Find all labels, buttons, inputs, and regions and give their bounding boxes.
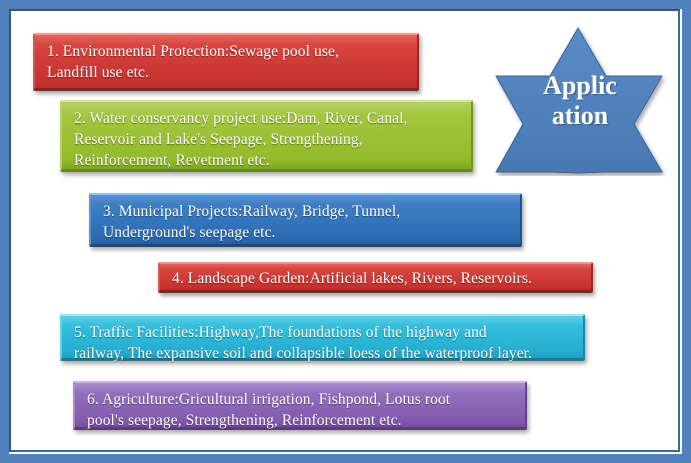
item-6-line-1: 6. Agriculture:Gricultural irrigation, F… bbox=[87, 389, 515, 410]
item-box-2[interactable]: 2. Water conservancy project use:Dam, Ri… bbox=[60, 100, 473, 172]
item-2-line-2: Reservoir and Lake's Seepage, Strengthen… bbox=[74, 129, 461, 150]
item-5-line-1: 5. Traffic Facilities:Highway,The founda… bbox=[74, 322, 573, 343]
six-point-star-icon bbox=[492, 26, 668, 176]
item-box-1[interactable]: 1. Environmental Protection:Sewage pool … bbox=[33, 33, 419, 91]
frame-top-border bbox=[0, 0, 691, 9]
frame-right-border bbox=[682, 0, 691, 463]
item-3-line-1: 3. Municipal Projects:Railway, Bridge, T… bbox=[103, 201, 510, 222]
application-star[interactable]: Applic ation bbox=[492, 26, 668, 176]
item-box-6[interactable]: 6. Agriculture:Gricultural irrigation, F… bbox=[73, 381, 527, 430]
item-box-5[interactable]: 5. Traffic Facilities:Highway,The founda… bbox=[60, 314, 585, 361]
item-box-3[interactable]: 3. Municipal Projects:Railway, Bridge, T… bbox=[89, 193, 522, 247]
frame-left-border bbox=[0, 0, 9, 463]
item-5-line-2: railway, The expansive soil and collapsi… bbox=[74, 343, 573, 364]
item-box-4[interactable]: 4. Landscape Garden:Artificial lakes, Ri… bbox=[158, 262, 593, 293]
item-6-line-2: pool's seepage, Strengthening, Reinforce… bbox=[87, 410, 515, 431]
frame-bottom-border bbox=[0, 454, 691, 463]
slide-canvas: 1. Environmental Protection:Sewage pool … bbox=[0, 0, 691, 463]
item-2-line-3: Reinforcement, Revetment etc. bbox=[74, 150, 461, 171]
item-4-line-1: 4. Landscape Garden:Artificial lakes, Ri… bbox=[172, 268, 581, 289]
item-1-line-2: Landfill use etc. bbox=[47, 62, 407, 83]
item-3-line-2: Underground's seepage etc. bbox=[103, 222, 510, 243]
item-2-line-1: 2. Water conservancy project use:Dam, Ri… bbox=[74, 108, 461, 129]
item-1-line-1: 1. Environmental Protection:Sewage pool … bbox=[47, 41, 407, 62]
